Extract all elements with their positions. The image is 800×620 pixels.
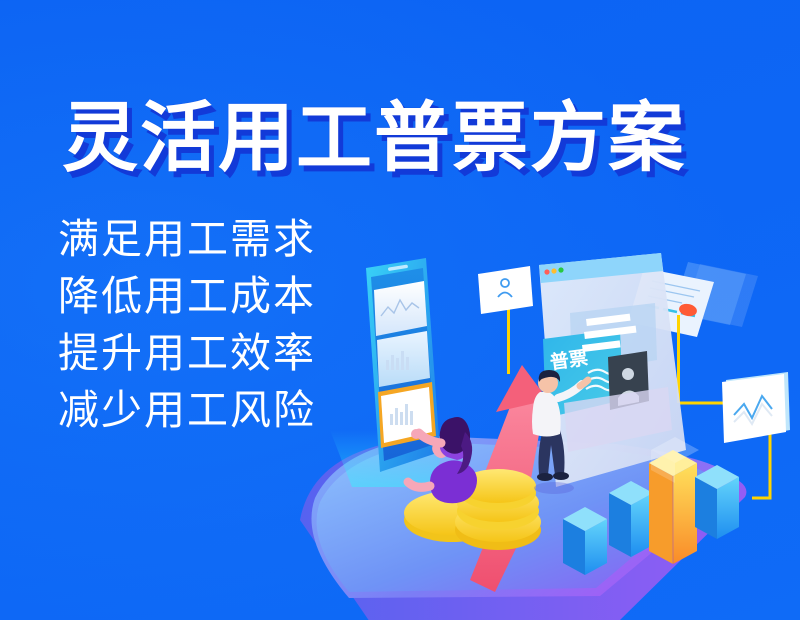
list-item: 提升用工效率 bbox=[58, 328, 316, 378]
bar-chart-card bbox=[377, 331, 430, 387]
bar-1 bbox=[563, 507, 607, 575]
list-item: 降低用工成本 bbox=[58, 271, 316, 321]
bar-2 bbox=[609, 481, 653, 557]
user-avatar-card bbox=[478, 266, 533, 374]
list-item: 满足用工需求 bbox=[58, 214, 316, 264]
bullet-list: 满足用工需求 降低用工成本 提升用工效率 减少用工风险 bbox=[58, 214, 316, 442]
page-title: 灵活用工普票方案 bbox=[62, 93, 686, 185]
bar-4 bbox=[695, 465, 739, 539]
list-item: 减少用工风险 bbox=[58, 385, 316, 435]
promo-banner: 普票 bbox=[0, 0, 800, 620]
